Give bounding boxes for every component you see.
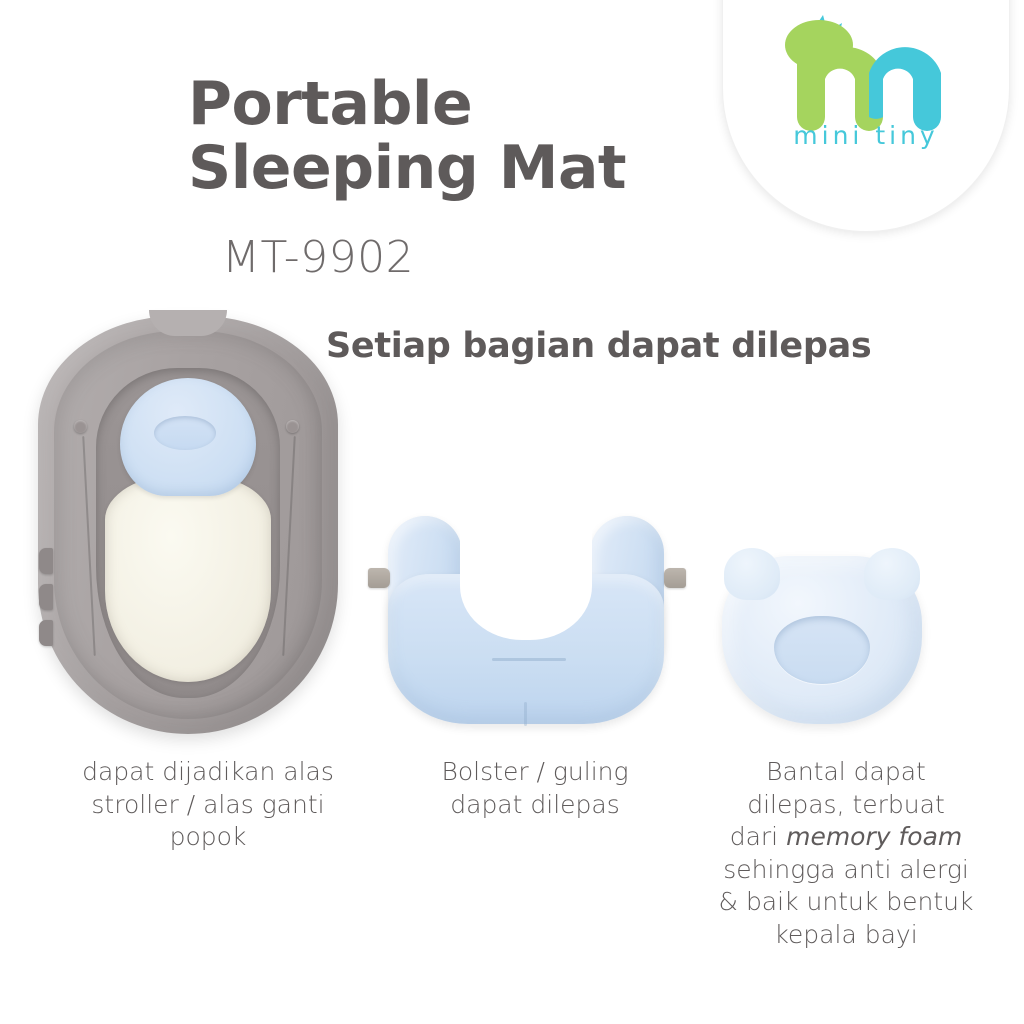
caption-pillow: Bantal dapat dilepas, terbuat dari memor… — [672, 756, 1020, 951]
bolster-inner-cutout — [460, 512, 592, 640]
mat-head-dimple — [154, 416, 216, 450]
caption-line: dapat dijadikan alas — [82, 757, 334, 786]
caption-line: dilepas, terbuat — [747, 790, 945, 819]
bolster-seam-horizontal — [492, 658, 566, 661]
product-image-pillow — [716, 548, 928, 726]
bolster-fabric-tab-right — [664, 568, 686, 588]
mat-mesh-body-panel — [105, 474, 271, 682]
brand-wordmark: mini tiny — [723, 121, 1009, 150]
pillow-ear-left — [724, 548, 780, 600]
pillow-ear-right — [864, 548, 920, 600]
caption-line: dapat dilepas — [450, 790, 619, 819]
product-image-bolster — [372, 512, 682, 728]
caption-emphasis-memory-foam: memory foam — [786, 822, 962, 851]
mat-side-strap — [39, 548, 53, 574]
product-infographic: mini tiny Portable Sleeping Mat MT-9902 … — [0, 0, 1024, 1024]
caption-line: popok — [170, 822, 247, 851]
caption-sleeping-mat: dapat dijadikan alas stroller / alas gan… — [28, 756, 388, 854]
brand-logo-card: mini tiny — [722, 0, 1010, 232]
caption-line: Bolster / guling — [442, 757, 629, 786]
model-number: MT-9902 — [222, 232, 414, 283]
caption-line: stroller / alas ganti — [91, 790, 324, 819]
caption-line: Bantal dapat — [766, 757, 926, 786]
mat-side-strap — [39, 620, 53, 646]
caption-line: dari — [730, 822, 786, 851]
mat-side-strap — [39, 584, 53, 610]
page-title: Portable Sleeping Mat — [188, 72, 728, 200]
bolster-seam-vertical — [524, 702, 527, 726]
tagline: Setiap bagian dapat dilepas — [326, 326, 871, 366]
title-line-2: Sleeping Mat — [188, 133, 626, 203]
caption-line: kepala bayi — [774, 920, 917, 949]
caption-line: sehingga anti alergi — [723, 855, 969, 884]
dinosaur-m-logo-icon — [723, 13, 1009, 133]
caption-bolster: Bolster / guling dapat dilepas — [392, 756, 678, 821]
mat-snap-button-right — [286, 420, 299, 433]
bolster-fabric-tab-left — [368, 568, 390, 588]
title-line-1: Portable — [188, 69, 472, 139]
mat-snap-button-left — [74, 420, 87, 433]
product-image-sleeping-mat — [38, 316, 338, 734]
caption-line: & baik untuk bentuk — [719, 887, 974, 916]
